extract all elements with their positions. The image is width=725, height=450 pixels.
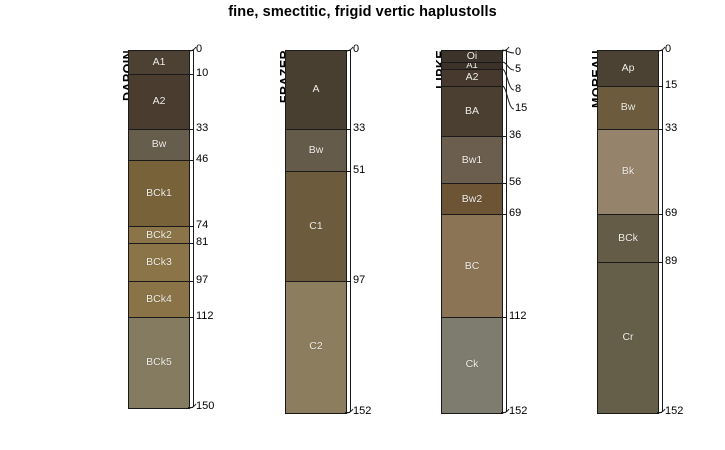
horizon-label: A1	[442, 63, 502, 70]
depth-value: 97	[196, 275, 208, 286]
depth-axis-line	[662, 50, 663, 412]
depth-value: 112	[509, 311, 527, 322]
horizon-label: Bw	[129, 138, 189, 150]
horizon-band: Oi	[442, 51, 502, 63]
horizon-band: A2	[442, 70, 502, 87]
depth-tick	[501, 317, 506, 318]
profile-column-frazer: ABwC1C2	[285, 50, 347, 414]
horizon-label: Oi	[442, 51, 502, 62]
depth-value: 36	[509, 130, 521, 141]
depth-axis-line	[193, 50, 194, 407]
horizon-label: A1	[129, 56, 189, 68]
horizon-band: BCk1	[129, 161, 189, 228]
horizon-label: Bw	[598, 101, 658, 113]
horizon-band: A	[286, 51, 346, 130]
horizon-band: BCk2	[129, 227, 189, 244]
depth-tick	[345, 171, 350, 172]
horizon-band: Ap	[598, 51, 658, 87]
horizon-label: Cr	[598, 331, 658, 343]
depth-value: 152	[353, 406, 371, 417]
depth-leader-line	[502, 0, 520, 1]
depth-value: 0	[515, 47, 521, 58]
horizon-band: A2	[129, 75, 189, 130]
horizon-band: Ck	[442, 318, 502, 413]
depth-axis-line	[350, 50, 351, 412]
horizon-band: Cr	[598, 263, 658, 413]
depth-value: 5	[515, 64, 521, 75]
horizon-band: BC	[442, 215, 502, 317]
horizon-band: A1	[442, 63, 502, 70]
depth-leader-line	[502, 0, 520, 1]
horizon-band: Bw	[598, 87, 658, 130]
horizon-label: BCk2	[129, 229, 189, 241]
depth-tick	[501, 136, 506, 137]
horizon-label: A2	[442, 71, 502, 83]
depth-tick	[188, 226, 193, 227]
horizon-label: BC	[442, 260, 502, 272]
horizon-label: Ap	[598, 62, 658, 74]
horizon-label: C1	[286, 220, 346, 232]
depth-tick	[345, 129, 350, 130]
depth-tick	[657, 86, 662, 87]
horizon-label: BCk3	[129, 256, 189, 268]
depth-value: 0	[196, 44, 202, 55]
horizon-label: Bw	[286, 144, 346, 156]
depth-tick	[345, 412, 350, 413]
horizon-band: Bw1	[442, 137, 502, 185]
depth-value: 81	[196, 237, 208, 248]
depth-value: 51	[353, 165, 365, 176]
depth-end-hook	[502, 50, 512, 60]
depth-value: 33	[196, 123, 208, 134]
depth-value: 0	[353, 44, 359, 55]
depth-tick	[345, 50, 350, 51]
depth-value: 15	[665, 80, 677, 91]
horizon-band: BCk5	[129, 318, 189, 409]
depth-value: 0	[665, 44, 671, 55]
depth-axis-line	[506, 50, 507, 412]
depth-tick	[657, 50, 662, 51]
horizon-band: A1	[129, 51, 189, 75]
profile-column-dapoin: A1A2BwBCk1BCk2BCk3BCk4BCk5	[128, 50, 190, 409]
depth-tick	[501, 183, 506, 184]
depth-tick	[345, 281, 350, 282]
depth-tick	[188, 160, 193, 161]
depth-value: 152	[509, 406, 527, 417]
horizon-band: Bk	[598, 130, 658, 216]
depth-value: 10	[196, 68, 208, 79]
horizon-label: A	[286, 83, 346, 95]
depth-value: 69	[509, 208, 521, 219]
depth-value: 56	[509, 177, 521, 188]
horizon-label: Ck	[442, 358, 502, 370]
depth-value: 112	[196, 311, 214, 322]
horizon-label: BCk1	[129, 187, 189, 199]
horizon-label: Bw2	[442, 193, 502, 205]
horizon-label: BCk4	[129, 293, 189, 305]
depth-tick	[501, 214, 506, 215]
depth-tick	[188, 281, 193, 282]
depth-tick	[657, 412, 662, 413]
horizon-label: BA	[442, 105, 502, 117]
horizon-label: BCk	[598, 232, 658, 244]
depth-tick	[657, 129, 662, 130]
horizon-label: Bw1	[442, 154, 502, 166]
depth-tick	[188, 243, 193, 244]
horizon-band: C1	[286, 172, 346, 282]
depth-value: 74	[196, 220, 208, 231]
depth-value: 69	[665, 208, 677, 219]
depth-leader-line	[502, 0, 520, 1]
horizon-band: BCk	[598, 215, 658, 263]
depth-value: 152	[665, 406, 683, 417]
depth-value: 33	[353, 123, 365, 134]
depth-value: 97	[353, 275, 365, 286]
depth-tick	[188, 129, 193, 130]
depth-leader-line	[502, 0, 520, 1]
depth-value: 89	[665, 256, 677, 267]
depth-tick	[501, 412, 506, 413]
horizon-band: C2	[286, 282, 346, 413]
profile-column-lipke: OiA1A2BABw1Bw2BCCk	[441, 50, 503, 414]
horizon-label: C2	[286, 340, 346, 352]
depth-value: 46	[196, 154, 208, 165]
depth-value: 150	[196, 401, 214, 412]
depth-value: 8	[515, 84, 521, 95]
horizon-label: BCk5	[129, 356, 189, 368]
horizon-label: A2	[129, 95, 189, 107]
depth-tick	[657, 262, 662, 263]
depth-tick	[188, 407, 193, 408]
depth-tick	[188, 50, 193, 51]
soil-profiles-area: DAPOINA1A2BwBCk1BCk2BCk3BCk4BCk501033467…	[0, 0, 725, 450]
profile-column-moreau: ApBwBkBCkCr	[597, 50, 659, 414]
depth-tick	[188, 317, 193, 318]
horizon-band: BCk4	[129, 282, 189, 318]
horizon-band: Bw	[286, 130, 346, 173]
horizon-band: Bw2	[442, 184, 502, 215]
horizon-label: Bk	[598, 165, 658, 177]
horizon-band: Bw	[129, 130, 189, 161]
depth-tick	[657, 214, 662, 215]
depth-value: 15	[515, 103, 527, 114]
depth-tick	[188, 74, 193, 75]
horizon-band: BCk3	[129, 244, 189, 282]
horizon-band: BA	[442, 87, 502, 137]
depth-value: 33	[665, 123, 677, 134]
